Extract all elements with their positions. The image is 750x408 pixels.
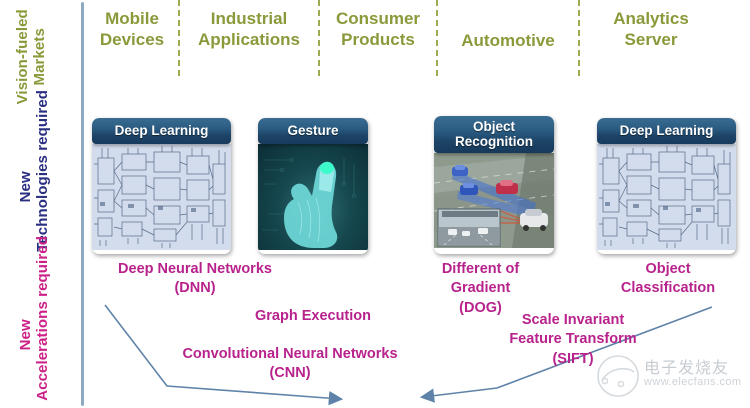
column-divider-4 bbox=[578, 0, 580, 76]
acceleration-object-classification: Object Classification bbox=[600, 260, 736, 299]
market-header-mobile-devices: Mobile Devices bbox=[86, 8, 178, 51]
watermark: 电子发烧友 www.elecfans.com bbox=[596, 352, 748, 404]
market-header-automotive: Automotive bbox=[440, 30, 576, 51]
tech-card-gesture[interactable]: Gesture bbox=[258, 118, 368, 254]
acceleration-object-classification-line2: Classification bbox=[600, 279, 736, 298]
left-axis-rule bbox=[81, 2, 84, 406]
acceleration-dnn-line1: Deep Neural Networks bbox=[90, 260, 300, 279]
acceleration-dnn: Deep Neural Networks (DNN) bbox=[90, 260, 300, 299]
acceleration-dog-line1: Different of bbox=[418, 260, 543, 279]
acceleration-sift-line1: Scale Invariant bbox=[489, 311, 657, 330]
acceleration-graph-execution: Graph Execution bbox=[233, 307, 393, 326]
row-label-new-accelerations-required: New Accelerations required bbox=[18, 269, 52, 401]
acceleration-graph-execution-line1: Graph Execution bbox=[233, 307, 393, 326]
market-mobile-line2: Devices bbox=[86, 29, 178, 50]
elecfans-logo-icon bbox=[596, 354, 640, 398]
neural-network-schematic-image-right bbox=[597, 144, 736, 250]
column-divider-1 bbox=[178, 0, 180, 76]
tech-card-title-deep-learning-left: Deep Learning bbox=[92, 118, 231, 144]
acceleration-sift-line2: Feature Transform bbox=[489, 330, 657, 349]
tech-card-title-object-recognition-line1: Object bbox=[438, 119, 550, 134]
acceleration-dog-line2: Gradient bbox=[418, 279, 543, 298]
market-header-consumer-products: Consumer Products bbox=[321, 8, 435, 51]
pointing-hand-image bbox=[258, 144, 368, 250]
acceleration-cnn-line2: (CNN) bbox=[157, 364, 423, 383]
row-label-accel-line2: Accelerations required bbox=[35, 269, 52, 401]
acceleration-cnn: Convolutional Neural Networks (CNN) bbox=[157, 345, 423, 384]
column-divider-2 bbox=[318, 0, 320, 76]
row-label-tech-line2: Technologies required bbox=[35, 122, 52, 252]
tech-card-title-object-recognition: Object Recognition bbox=[434, 116, 554, 153]
tech-card-deep-learning-left[interactable]: Deep Learning bbox=[92, 118, 231, 254]
tech-card-object-recognition[interactable]: Object Recognition bbox=[434, 116, 554, 254]
tech-card-deep-learning-right[interactable]: Deep Learning bbox=[597, 118, 736, 254]
road-traffic-radar-image bbox=[434, 153, 554, 248]
tech-card-title-gesture: Gesture bbox=[258, 118, 368, 144]
market-automotive-line1: Automotive bbox=[440, 30, 576, 51]
row-label-tech-line1: New bbox=[17, 171, 34, 202]
market-mobile-line1: Mobile bbox=[86, 8, 178, 29]
acceleration-object-classification-line1: Object bbox=[600, 260, 736, 279]
market-industrial-line2: Applications bbox=[181, 29, 317, 50]
acceleration-dog: Different of Gradient (DOG) bbox=[418, 260, 543, 318]
tech-card-title-deep-learning-right: Deep Learning bbox=[597, 118, 736, 144]
market-analytics-line2: Server bbox=[581, 29, 721, 50]
diagram-canvas: Vision-fueled Markets New Technologies r… bbox=[0, 0, 750, 408]
market-consumer-line2: Products bbox=[321, 29, 435, 50]
watermark-chinese-text: 电子发烧友 bbox=[644, 354, 729, 378]
market-analytics-line1: Analytics bbox=[581, 8, 721, 29]
market-industrial-line1: Industrial bbox=[181, 8, 317, 29]
market-header-industrial-applications: Industrial Applications bbox=[181, 8, 317, 51]
market-header-analytics-server: Analytics Server bbox=[581, 8, 721, 51]
market-consumer-line1: Consumer bbox=[321, 8, 435, 29]
watermark-url-text: www.elecfans.com bbox=[644, 376, 742, 388]
row-label-markets-line1: Vision-fueled bbox=[14, 9, 31, 104]
row-label-new-technologies-required: New Technologies required bbox=[18, 122, 52, 252]
column-divider-3 bbox=[436, 0, 438, 76]
acceleration-cnn-line1: Convolutional Neural Networks bbox=[157, 345, 423, 364]
neural-network-schematic-image bbox=[92, 144, 231, 250]
tech-card-title-object-recognition-line2: Recognition bbox=[438, 134, 550, 149]
acceleration-dnn-line2: (DNN) bbox=[90, 279, 300, 298]
row-label-accel-line1: New bbox=[17, 319, 34, 350]
